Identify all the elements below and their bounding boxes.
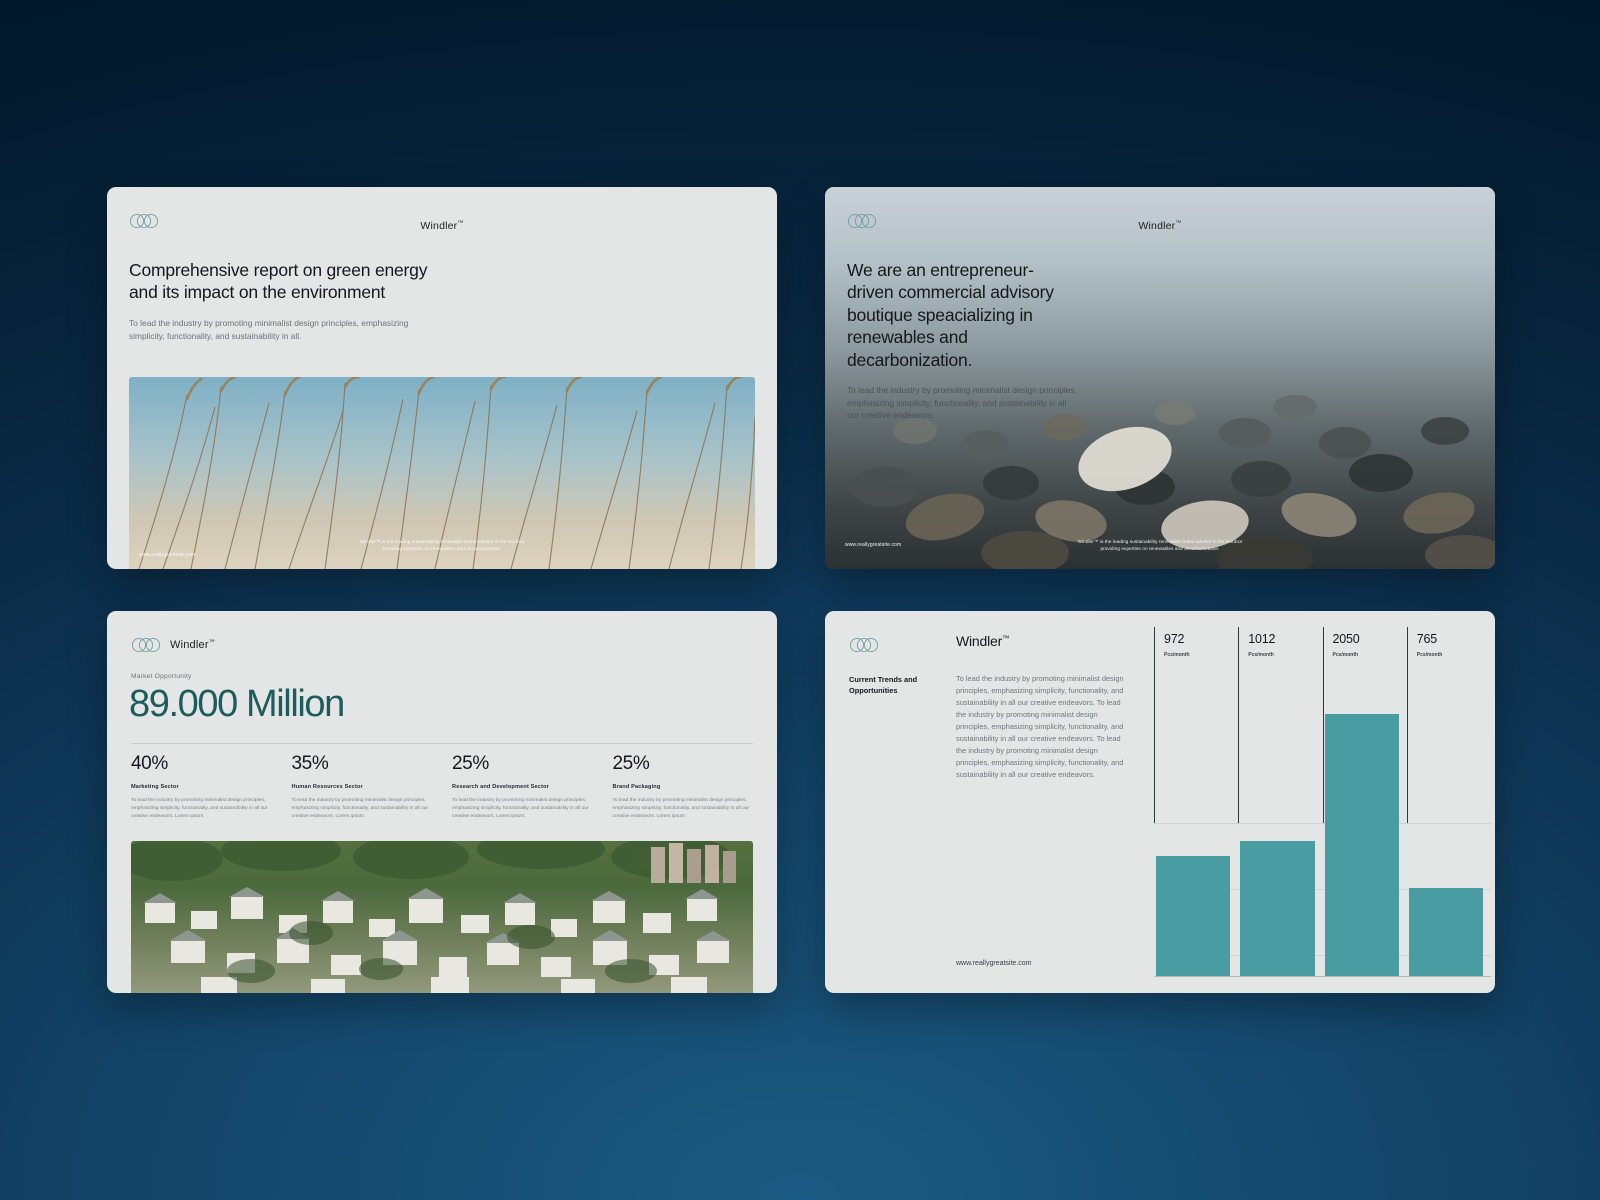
chart-plot-area: 972 Pcs/month 1012 Pcs/month 2050 Pcs/mo… bbox=[1154, 627, 1491, 977]
slide-about[interactable]: Windler™ We are an entrepreneur-driven c… bbox=[825, 187, 1495, 569]
bar-value-label: 972 bbox=[1164, 632, 1184, 646]
bar-unit-label: Pcs/month bbox=[1248, 652, 1274, 658]
section-kicker: Market Opportunity bbox=[131, 673, 192, 680]
three-overlapping-circles-logo-icon bbox=[131, 637, 161, 653]
bar[interactable] bbox=[1409, 888, 1483, 976]
slide-title-text: We are an entrepreneur-driven commercial… bbox=[847, 259, 1079, 371]
stat-description: To lead the industry by promoting minima… bbox=[292, 797, 433, 821]
headline-figure: 89.000 Million bbox=[129, 683, 344, 726]
stat-item: 25% Research and Development Sector To l… bbox=[452, 753, 593, 821]
slide-subtitle-text: To lead the industry by promoting minima… bbox=[129, 317, 429, 343]
photo-caption: Windler™ is the leading sustainability r… bbox=[1070, 539, 1250, 553]
photo-website-url[interactable]: www.reallygreatsite.com bbox=[139, 552, 195, 560]
bar[interactable] bbox=[1156, 856, 1230, 976]
stat-label: Brand Packaging bbox=[613, 784, 754, 790]
stat-label: Marketing Sector bbox=[131, 784, 272, 790]
brand-name: Windler bbox=[170, 639, 209, 651]
photo-caption: Windler™ is the leading sustainability r… bbox=[352, 539, 532, 553]
stat-label: Human Resources Sector bbox=[292, 784, 433, 790]
stat-item: 25% Brand Packaging To lead the industry… bbox=[613, 753, 754, 821]
brand-logo bbox=[849, 637, 879, 658]
slide-brand-wordmark: Windler™ bbox=[107, 216, 777, 234]
three-overlapping-circles-logo-icon bbox=[849, 637, 879, 653]
brand-name: Windler bbox=[1138, 220, 1175, 232]
chart-columns: 972 Pcs/month 1012 Pcs/month 2050 Pcs/mo… bbox=[1154, 627, 1491, 977]
stat-item: 40% Marketing Sector To lead the industr… bbox=[131, 753, 272, 821]
bar-chart[interactable]: 972 Pcs/month 1012 Pcs/month 2050 Pcs/mo… bbox=[1154, 627, 1491, 977]
column-divider bbox=[1407, 627, 1408, 823]
column-divider bbox=[1323, 627, 1324, 823]
stat-label: Research and Development Sector bbox=[452, 784, 593, 790]
stat-description: To lead the industry by promoting minima… bbox=[452, 797, 593, 821]
chart-column[interactable]: 2050 Pcs/month bbox=[1323, 627, 1407, 977]
brand-name: Windler bbox=[956, 633, 1002, 649]
trademark-symbol: ™ bbox=[209, 639, 215, 645]
hillside-town-illustration bbox=[131, 841, 753, 993]
website-url[interactable]: www.reallygreatsite.com bbox=[956, 960, 1031, 967]
chart-column[interactable]: 972 Pcs/month bbox=[1154, 627, 1238, 977]
slide-brand-wordmark: Windler™ bbox=[825, 216, 1495, 234]
title-block: We are an entrepreneur-driven commercial… bbox=[847, 259, 1079, 422]
brand-logo-lockup: Windler™ bbox=[131, 637, 215, 653]
stat-item: 35% Human Resources Sector To lead the i… bbox=[292, 753, 433, 821]
slide-current-trends[interactable]: Windler™ Current Trends and Opportunitie… bbox=[825, 611, 1495, 993]
bar[interactable] bbox=[1325, 714, 1399, 976]
hero-photo-town bbox=[131, 841, 753, 993]
stat-value: 40% bbox=[131, 753, 272, 775]
brand-name: Windler bbox=[420, 220, 457, 232]
photo-website-url[interactable]: www.reallygreatsite.com bbox=[845, 542, 901, 550]
trademark-symbol: ™ bbox=[1175, 221, 1181, 227]
title-block: Comprehensive report on green energy and… bbox=[129, 259, 429, 342]
trademark-symbol: ™ bbox=[1002, 633, 1009, 642]
bar-value-label: 1012 bbox=[1248, 632, 1275, 646]
bar-unit-label: Pcs/month bbox=[1333, 652, 1359, 658]
bar-value-label: 765 bbox=[1417, 632, 1437, 646]
slide-title-text: Comprehensive report on green energy and… bbox=[129, 259, 429, 304]
slide-title[interactable]: Windler™ Comprehensive report on green e… bbox=[107, 187, 777, 569]
stat-description: To lead the industry by promoting minima… bbox=[613, 797, 754, 821]
slide-subtitle-text: To lead the industry by promoting minima… bbox=[847, 384, 1079, 422]
bar-unit-label: Pcs/month bbox=[1164, 652, 1190, 658]
slide-deck: Windler™ Comprehensive report on green e… bbox=[107, 187, 1495, 993]
bar-unit-label: Pcs/month bbox=[1417, 652, 1443, 658]
stats-row: 40% Marketing Sector To lead the industr… bbox=[131, 753, 753, 821]
divider bbox=[131, 743, 753, 744]
bar-value-label: 2050 bbox=[1333, 632, 1360, 646]
column-divider bbox=[1238, 627, 1239, 823]
stat-description: To lead the industry by promoting minima… bbox=[131, 797, 272, 821]
slide-brand-wordmark: Windler™ bbox=[956, 633, 1009, 649]
chart-column[interactable]: 1012 Pcs/month bbox=[1238, 627, 1322, 977]
hero-photo-grass: Windler™ is the leading sustainability r… bbox=[129, 377, 755, 569]
bar[interactable] bbox=[1240, 841, 1314, 976]
section-body-text: To lead the industry by promoting minima… bbox=[956, 673, 1128, 781]
chart-column[interactable]: 765 Pcs/month bbox=[1407, 627, 1491, 977]
trademark-symbol: ™ bbox=[457, 221, 463, 227]
column-divider bbox=[1154, 627, 1155, 823]
stat-value: 35% bbox=[292, 753, 433, 775]
stat-value: 25% bbox=[452, 753, 593, 775]
slide-market-opportunity[interactable]: Windler™ Market Opportunity 89.000 Milli… bbox=[107, 611, 777, 993]
section-label: Current Trends and Opportunities bbox=[849, 674, 943, 696]
stat-value: 25% bbox=[613, 753, 754, 775]
